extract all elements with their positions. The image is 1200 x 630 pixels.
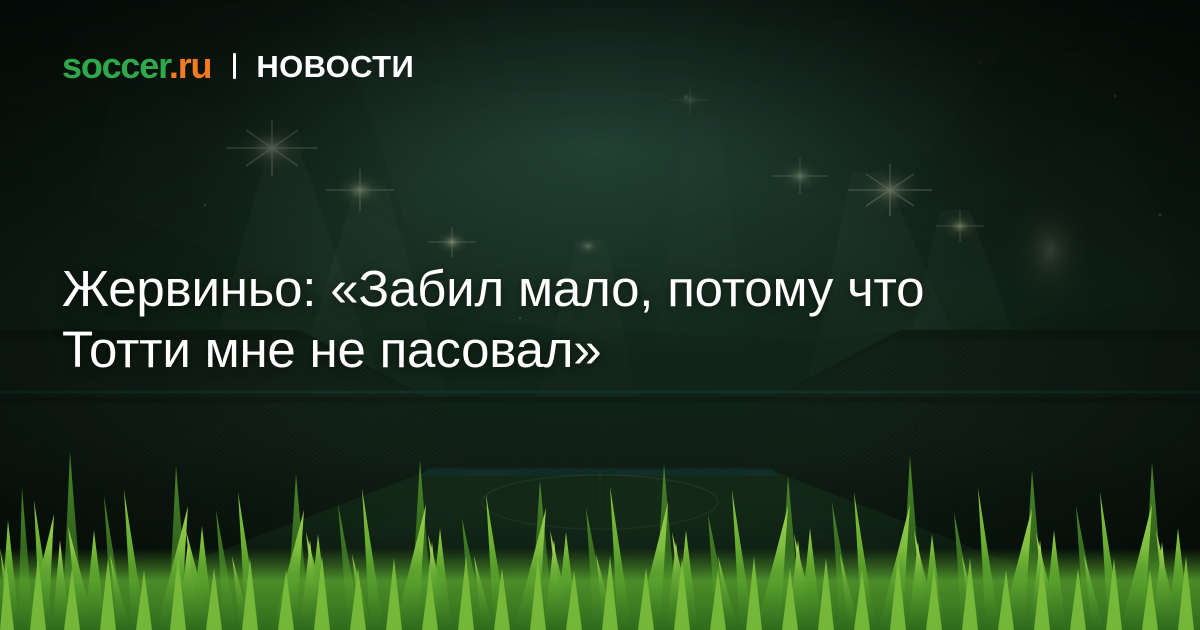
logo-tld: .ru bbox=[169, 45, 211, 86]
site-header: soccer.ru НОВОСТИ bbox=[62, 48, 414, 84]
soccer-ru-logo[interactable]: soccer.ru bbox=[62, 48, 211, 84]
article-headline: Жервиньо: «Забил мало, потому что Тотти … bbox=[62, 258, 1152, 380]
headline-line-1: Жервиньо: «Забил мало, потому что bbox=[62, 258, 1152, 319]
news-share-card: soccer.ru НОВОСТИ Жервиньо: «Забил мало,… bbox=[0, 0, 1200, 630]
logo-wordmark: soccer bbox=[62, 45, 169, 86]
header-separator bbox=[233, 53, 236, 79]
section-label-news: НОВОСТИ bbox=[256, 51, 414, 82]
headline-line-2: Тотти мне не пасовал» bbox=[62, 319, 1152, 380]
